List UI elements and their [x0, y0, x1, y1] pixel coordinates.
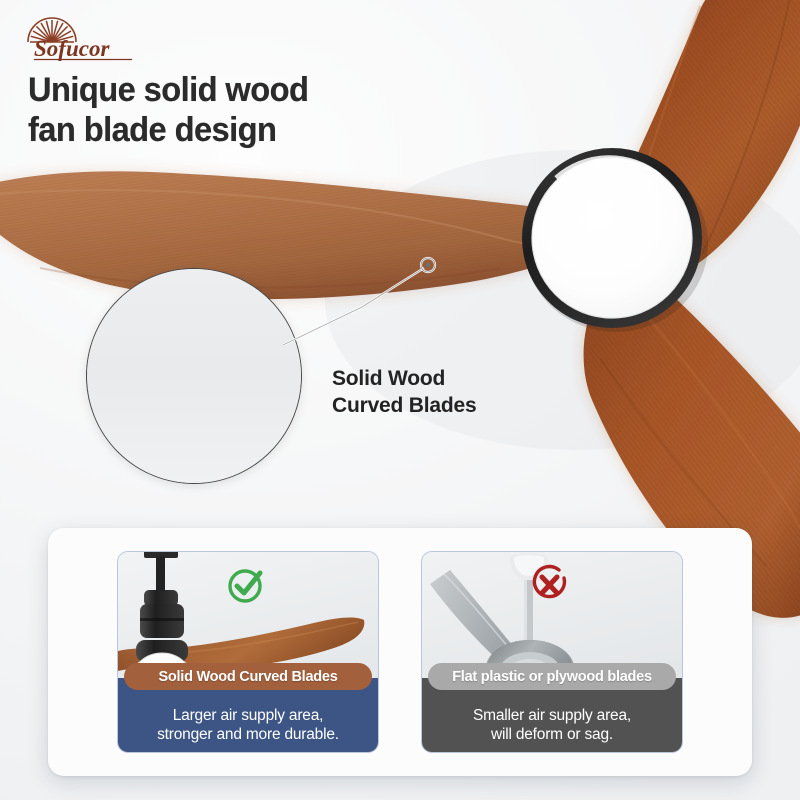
red-x-circle-icon	[530, 564, 572, 606]
comparison-panel: Larger air supply area, stronger and mor…	[48, 528, 752, 776]
magnifier-circle-icon	[86, 268, 302, 484]
card-pill-label: Solid Wood Curved Blades	[124, 663, 372, 690]
comparison-card-good[interactable]: Larger air supply area, stronger and mor…	[117, 551, 379, 753]
page-title: Unique solid wood fan blade design	[28, 70, 308, 150]
comparison-card-bad[interactable]: Smaller air supply area, will deform or …	[421, 551, 683, 753]
brand-logo: Sofucor	[14, 14, 138, 64]
card-pill-label: Flat plastic or plywood blades	[428, 663, 676, 690]
magnifier-caption: Solid Wood Curved Blades	[332, 366, 476, 420]
brand-name: Sofucor	[34, 36, 110, 61]
magnifier-backdrop	[87, 269, 301, 483]
green-check-circle-icon	[226, 564, 268, 606]
marketing-image-canvas: Sofucor Unique solid wood fan blade desi…	[0, 0, 800, 800]
